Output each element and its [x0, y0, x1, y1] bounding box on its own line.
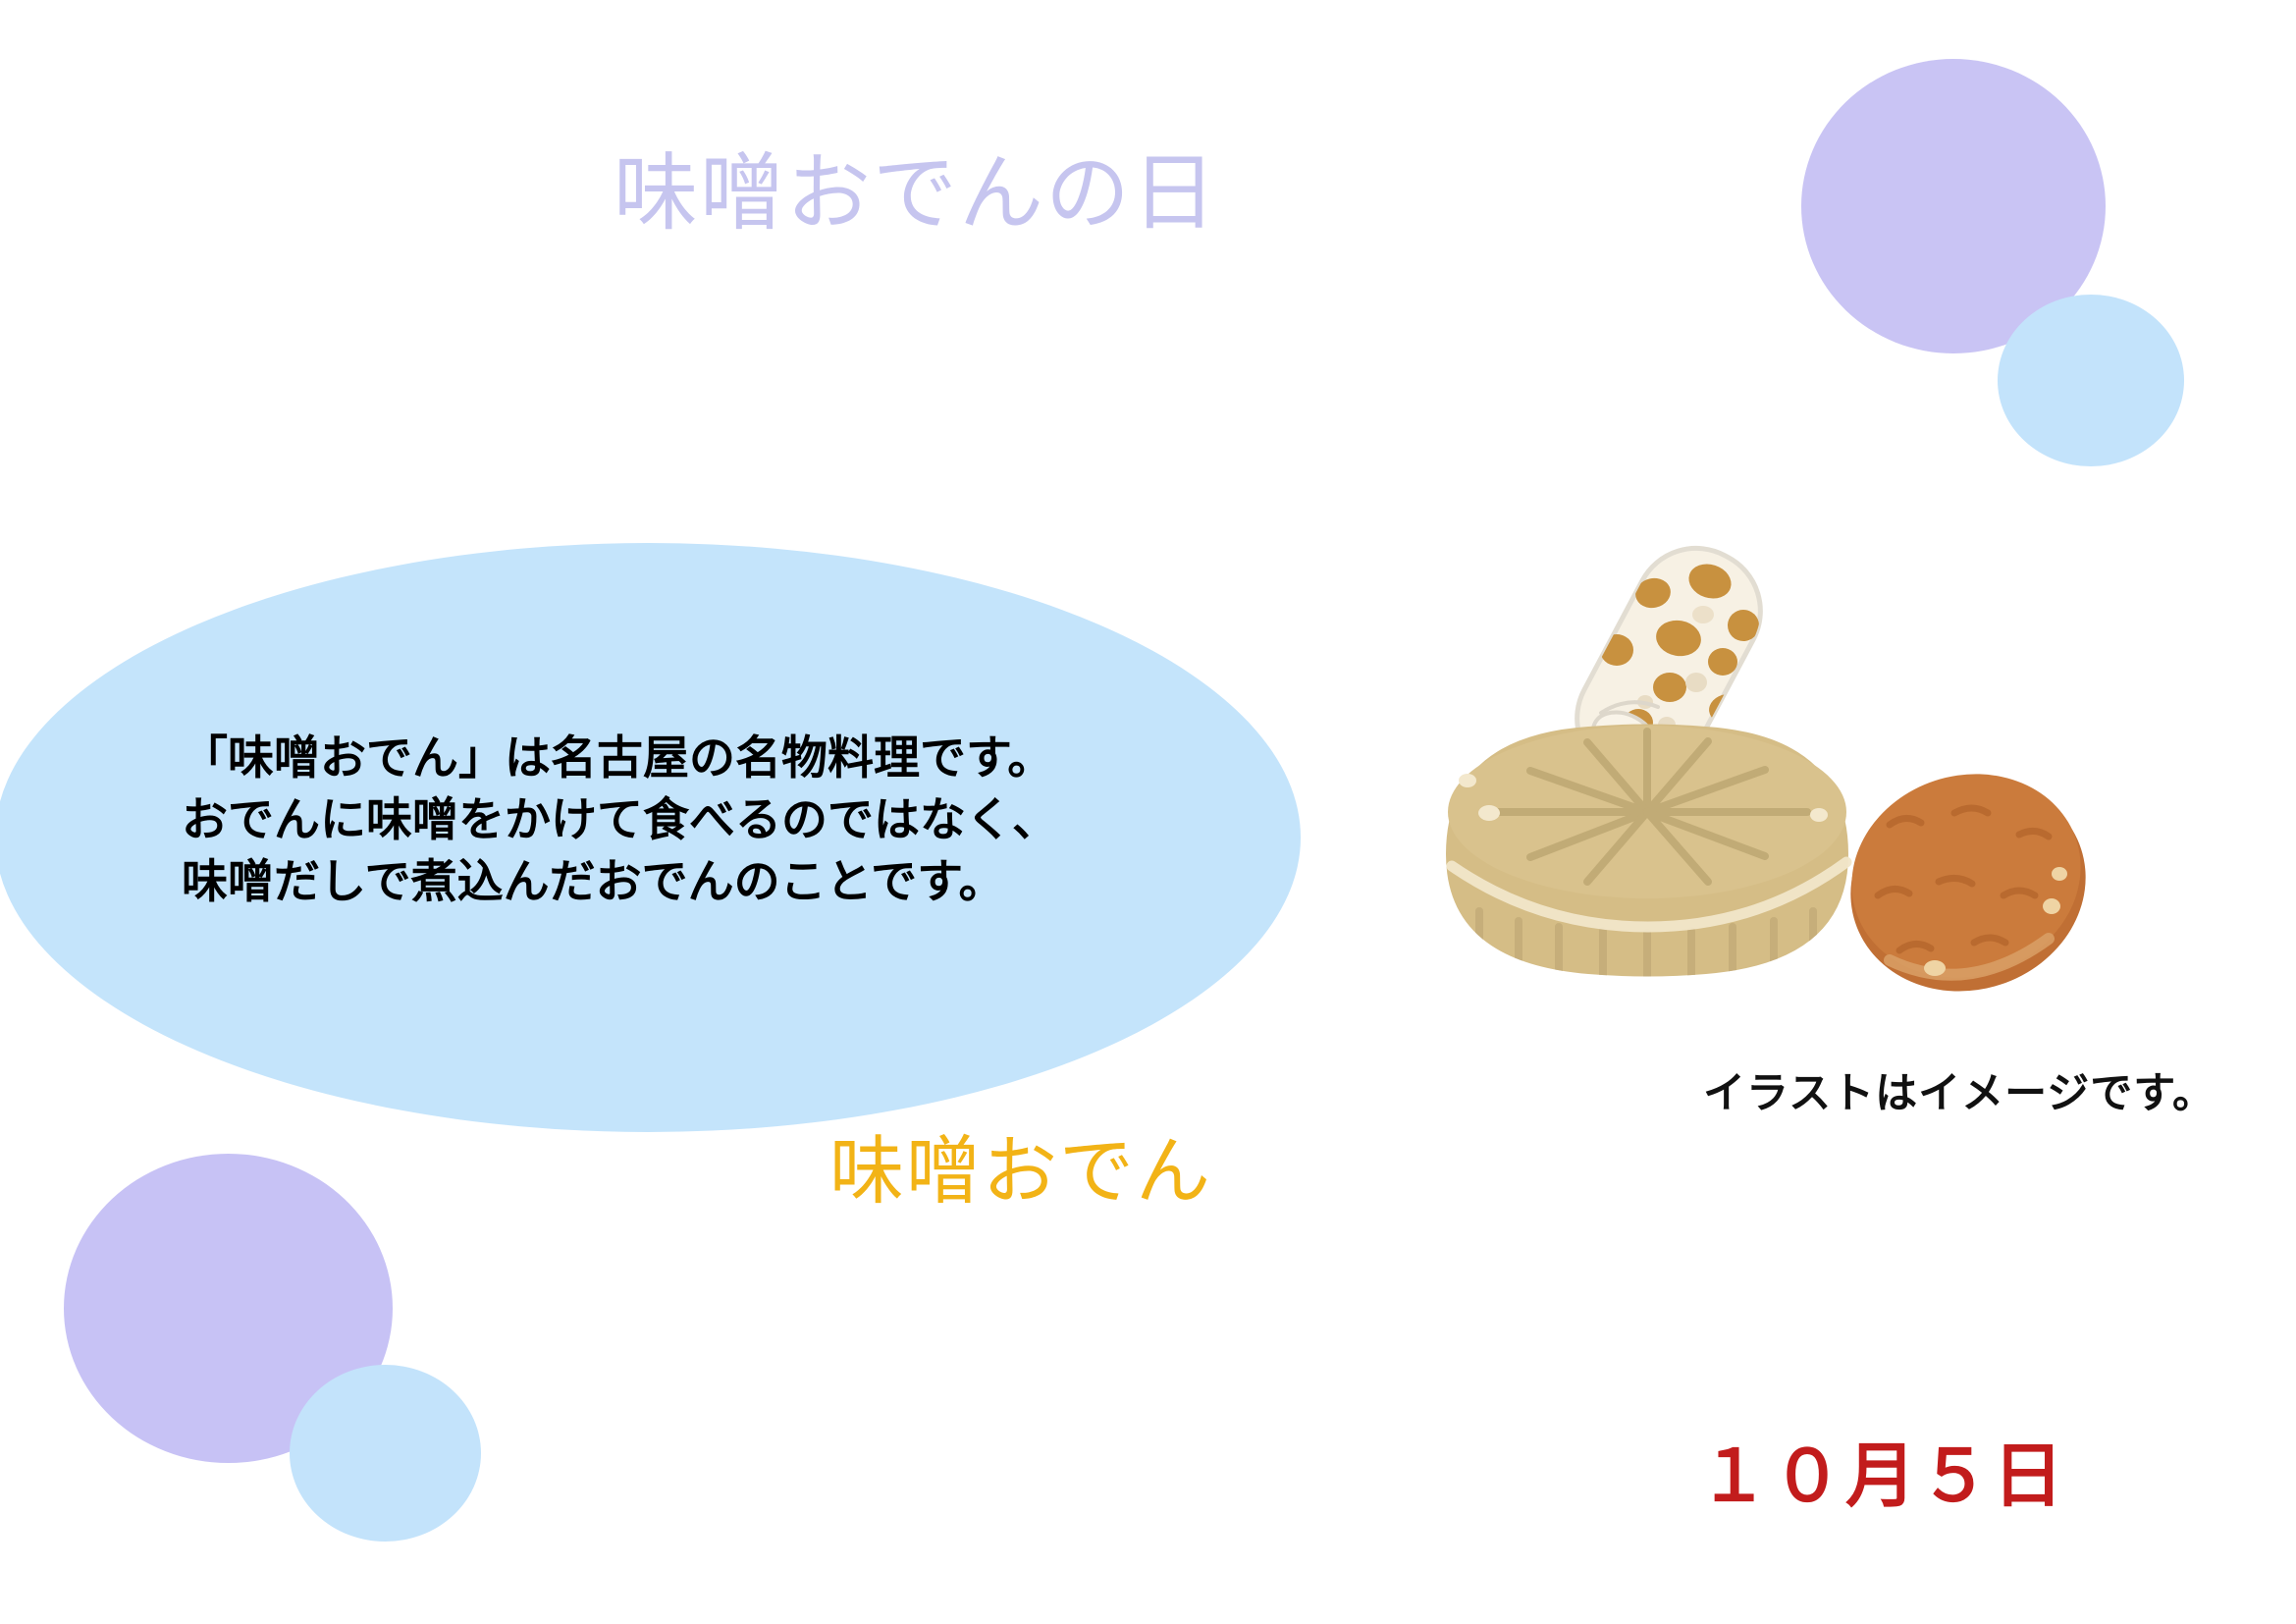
blue-circle-top-right	[1998, 295, 2184, 466]
date-label: １０月５日	[1698, 1441, 2066, 1512]
page-title: 味噌おでんの日	[614, 149, 1218, 238]
description-text: 「味噌おでん」は名古屋の名物料理です。 おでんに味噌をかけて食べるのではなく、 …	[182, 727, 1163, 912]
daikon-icon	[1446, 725, 1848, 1001]
description-line-1: 「味噌おでん」は名古屋の名物料理です。	[182, 727, 1163, 788]
illustration-caption: イラストはイメージです。	[1703, 1073, 2216, 1115]
description-line-2: おでんに味噌をかけて食べるのではなく、	[182, 788, 1163, 850]
oden-label: 味噌おでん	[829, 1135, 1212, 1210]
satsumaage-icon	[1823, 745, 2096, 1022]
oden-illustration	[1428, 530, 2096, 1041]
description-line-3: 味噌だしで煮込んだおでんのことです。	[182, 850, 1163, 912]
poster-canvas: 味噌おでんの日 「味噌おでん」は名古屋の名物料理です。 おでんに味噌をかけて食べ…	[0, 0, 2296, 1624]
blue-circle-bottom-left	[290, 1365, 481, 1542]
